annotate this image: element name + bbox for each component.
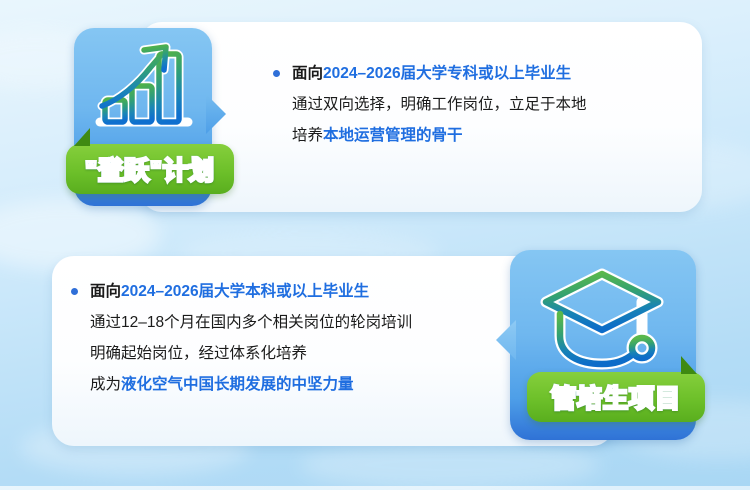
- card-text-line: 面向2024–2026届大学本科或以上毕业生: [90, 276, 506, 307]
- card-badge-guanpeisheng: 管培生项目: [527, 372, 705, 422]
- plain-text: 面向: [90, 283, 121, 300]
- plain-text: 培养: [292, 127, 323, 144]
- card-text-line: 明确起始岗位，经过体系化培养: [90, 338, 506, 369]
- card-text-line: 通过双向选择，明确工作岗位，立足于本地: [292, 89, 688, 120]
- highlighted-text: 2024–2026届大学专科或以上毕业生: [323, 65, 571, 82]
- card-text-block: 面向2024–2026届大学本科或以上毕业生 通过12–18个月在国内多个相关岗…: [66, 276, 506, 400]
- poster-canvas: "登跃"计划 面向2024–2026届大学专科或以上毕业生 通过双向选择，明确工…: [0, 0, 750, 486]
- bullet-point-icon: [71, 288, 78, 295]
- card-text-line: 成为液化空气中国长期发展的中坚力量: [90, 369, 506, 400]
- program-card-guanpeisheng: 管培生项目 面向2024–2026届大学本科或以上毕业生 通过12–18个月在国…: [0, 240, 750, 440]
- cloud-decoration: [300, 440, 600, 490]
- highlighted-text: 本地运营管理的骨干: [323, 127, 463, 144]
- card-badge-label: "登跃"计划: [85, 151, 215, 187]
- plain-text: 面向: [292, 65, 323, 82]
- card-text-block: 面向2024–2026届大学专科或以上毕业生 通过双向选择，明确工作岗位，立足于…: [268, 58, 688, 151]
- program-card-dengyue: "登跃"计划 面向2024–2026届大学专科或以上毕业生 通过双向选择，明确工…: [0, 0, 750, 230]
- highlighted-text: 液化空气中国长期发展的中坚力量: [121, 376, 354, 393]
- plain-text: 明确起始岗位，经过体系化培养: [90, 345, 307, 362]
- card-badge-dengyue: "登跃"计划: [66, 144, 234, 194]
- plain-text: 通过12–18个月在国内多个相关岗位的轮岗培训: [90, 314, 412, 331]
- card-text-line: 面向2024–2026届大学专科或以上毕业生: [292, 58, 688, 89]
- highlighted-text: 2024–2026届大学本科或以上毕业生: [121, 283, 369, 300]
- plain-text: 成为: [90, 376, 121, 393]
- bullet-point-icon: [273, 70, 280, 77]
- graduation-cap-icon: [536, 262, 668, 376]
- card-badge-label: 管培生项目: [551, 379, 681, 415]
- growth-chart-arrow-icon: [88, 34, 200, 138]
- plain-text: 通过双向选择，明确工作岗位，立足于本地: [292, 96, 587, 113]
- card-text-line: 通过12–18个月在国内多个相关岗位的轮岗培训: [90, 307, 506, 338]
- card-text-line: 培养本地运营管理的骨干: [292, 120, 688, 151]
